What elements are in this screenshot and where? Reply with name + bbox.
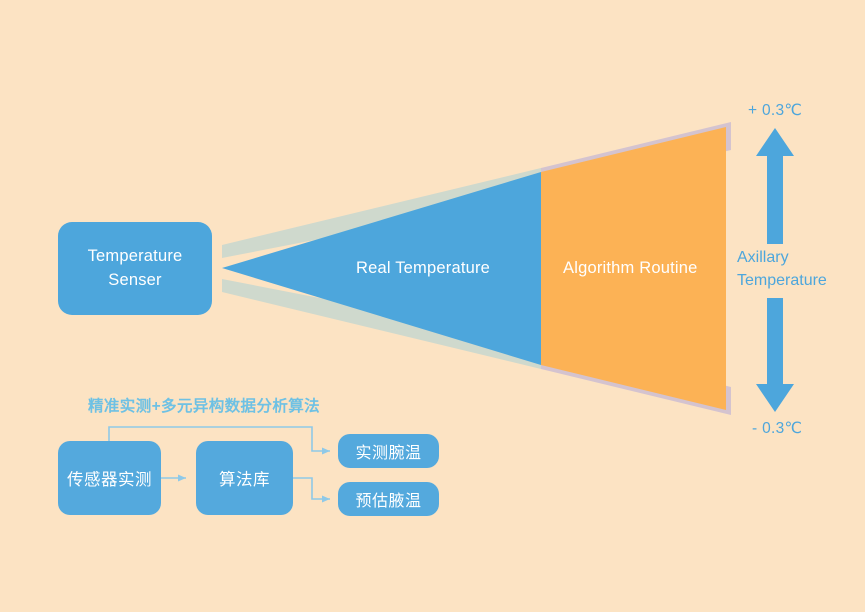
axillary-temperature-label-line1: Axillary (737, 249, 789, 266)
flow-node-measured-wrist-temp-label: 实测腕温 (355, 439, 421, 463)
flow-node-measured-wrist-temp[interactable]: 实测腕温 (338, 434, 439, 468)
axillary-temperature-label: Axillary Temperature (737, 247, 827, 292)
temperature-sensor-box[interactable]: Temperature Senser (58, 222, 212, 315)
flow-node-estimated-axilla-temp-label: 预估腋温 (355, 487, 421, 511)
diagram-canvas: Temperature Senser Real Temperature Algo… (0, 0, 865, 612)
flow-node-sensor-measure-label: 传感器实测 (67, 466, 152, 490)
arrow-head-down-icon (756, 368, 794, 412)
arrowhead-algo-to-axilla (322, 496, 330, 503)
arrowhead-sensor-to-algo (178, 475, 186, 482)
flowchart-title: 精准实测+多元异构数据分析算法 (88, 394, 320, 416)
arrow-head-up-icon (756, 128, 794, 172)
arrowhead-sensor-to-wrist (322, 448, 330, 455)
flow-node-algorithm-library[interactable]: 算法库 (196, 441, 293, 515)
flow-node-estimated-axilla-temp[interactable]: 预估腋温 (338, 482, 439, 516)
flow-node-algorithm-library-label: 算法库 (219, 466, 270, 490)
algorithm-routine-label: Algorithm Routine (563, 259, 698, 278)
arrow-shaft-upper (767, 166, 783, 244)
axillary-temperature-label-line2: Temperature (737, 272, 827, 289)
flow-node-sensor-measure[interactable]: 传感器实测 (58, 441, 161, 515)
temperature-sensor-label-line1: Temperature (88, 247, 183, 265)
temperature-sensor-label-line2: Senser (108, 271, 161, 289)
real-temperature-label: Real Temperature (356, 259, 490, 278)
temperature-sensor-label: Temperature Senser (88, 245, 183, 292)
lower-tolerance-label: - 0.3℃ (752, 419, 802, 438)
upper-tolerance-label: + 0.3℃ (748, 101, 802, 120)
connector-algo-to-axilla (293, 478, 330, 499)
arrow-shaft-lower (767, 298, 783, 376)
